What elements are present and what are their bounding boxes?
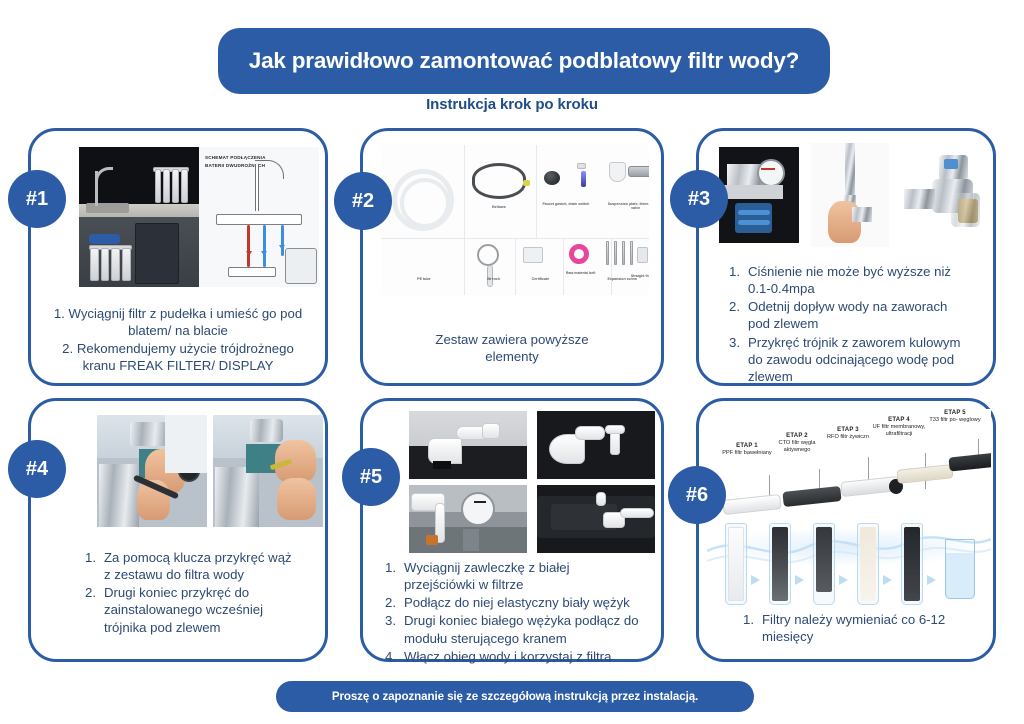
list-item: 4. Włącz obieg wody i korzystaj z filtra: [385, 648, 639, 665]
list-item-body: Filtry należy wymieniać co 6-12 miesięcy: [762, 612, 945, 644]
step-4-list: 1. Za pomocą klucza przykręć wąż z zesta…: [85, 549, 295, 636]
list-item-body: Drugi koniec białego wężyka podłącz do m…: [404, 613, 639, 645]
stage-4-head: ETAP 4: [871, 417, 927, 424]
list-item-number: 3.: [729, 334, 740, 351]
step-card-3: 1. Ciśnienie nie może być wyższe niż 0.1…: [696, 128, 996, 386]
list-item-number: 1.: [729, 263, 740, 280]
infographic-page: Jak prawidłowo zamontować podblatowy fil…: [0, 0, 1024, 724]
list-item-body: Za pomocą klucza przykręć wąż z zestawu …: [104, 550, 292, 582]
step-5-photo-4: [537, 485, 655, 553]
list-item: 1. Wyciągnij zawleczkę z białej przejści…: [385, 559, 639, 593]
step-5-photo-1: [409, 411, 527, 479]
stage-label-4: ETAP 4 UF filtr membranowy, ultrafiltrac…: [871, 417, 927, 438]
kit-label-straight-through: Straight through: [630, 274, 649, 278]
kit-label-suspension-plate: Suspension plate, three-way ball valve: [606, 202, 649, 211]
step-card-1: SCHEMAT PODŁĄCZENIA BATERII DWUDROŻNYCH: [28, 128, 328, 386]
footer-banner: Proszę o zapoznanie się ze szczegółową i…: [276, 681, 754, 712]
cartridge-2: [782, 486, 841, 507]
list-item-body: Wyciągnij zawleczkę z białej przejściówk…: [404, 560, 570, 592]
list-item-text: 2. Rekomendujemy użycie trójdrożnego kra…: [62, 341, 294, 373]
stage-label-3: ETAP 3 RFO filtr żywiczn: [825, 427, 871, 441]
step-4-photo-a: [97, 415, 207, 527]
step-5-list: 1. Wyciągnij zawleczkę z białej przejści…: [385, 559, 639, 665]
list-item: 3. Drugi koniec białego wężyka podłącz d…: [385, 612, 639, 646]
stage-3-sub: RFO filtr żywiczn: [825, 434, 871, 441]
filter-tube-5: [901, 523, 923, 605]
list-item: 1. Za pomocą klucza przykręć wąż z zesta…: [85, 549, 295, 583]
filter-tube-4: [857, 523, 879, 605]
list-item-body: Włącz obieg wody i korzystaj z filtra: [404, 649, 611, 664]
step-1-image: SCHEMAT PODŁĄCZENIA BATERII DWUDROŻNYCH: [79, 147, 319, 287]
step-badge-3-label: #3: [688, 188, 710, 211]
step-6-image: ETAP 1 PPF filtr bawełniany ETAP 2 CTO f…: [707, 409, 991, 609]
step-badge-6-label: #6: [686, 484, 708, 507]
kit-label-bellows: Bellows: [472, 205, 526, 209]
stage-label-2: ETAP 2 CTO filtr węgla aktywnego: [773, 433, 821, 454]
list-item-body: Ciśnienie nie może być wyższe niż 0.1-0.…: [748, 264, 951, 296]
stage-2-sub: CTO filtr węgla aktywnego: [773, 440, 821, 454]
list-item: 1. Filtry należy wymieniać co 6-12 miesi…: [743, 611, 965, 645]
step-1-list: 1. Wyciągnij filtr z pudełka i umieść go…: [45, 305, 311, 375]
step-badge-4-label: #4: [26, 458, 48, 481]
step-6-caption: 1. Filtry należy wymieniać co 6-12 miesi…: [729, 611, 979, 646]
list-item-body: Drugi koniec przykręć do zainstalowanego…: [104, 585, 263, 634]
list-item-body: Rekomendujemy użycie trójdrożnego kranu …: [77, 341, 294, 373]
stage-4-sub: UF filtr membranowy, ultrafiltracji: [871, 424, 927, 438]
step-4-photo-b: [213, 415, 323, 527]
step-2-caption: Zestaw zawiera powyższe elementy: [393, 331, 631, 365]
list-item: 2. Drugi koniec przykręć do zainstalowan…: [85, 584, 295, 635]
step-badge-4: #4: [8, 440, 66, 498]
step-badge-2: #2: [334, 172, 392, 230]
list-item-body: Przykręć trójnik z zaworem kulowym do za…: [748, 335, 961, 384]
step-5-caption: 1. Wyciągnij zawleczkę z białej przejści…: [371, 559, 653, 666]
filter-tube-3: [813, 523, 835, 605]
filter-tube-1: [725, 523, 747, 605]
step-3-caption: 1. Ciśnienie nie może być wyższe niż 0.1…: [715, 263, 983, 386]
step-badge-5: #5: [342, 448, 400, 506]
step-badge-3: #3: [670, 170, 728, 228]
list-item: 2. Odetnij dopływ wody na zaworach pod z…: [729, 298, 969, 332]
connection-diagram: SCHEMAT PODŁĄCZENIA BATERII DWUDROŻNYCH: [199, 147, 319, 287]
step-4-caption: 1. Za pomocą klucza przykręć wąż z zesta…: [71, 549, 309, 637]
list-item-number: 2.: [729, 298, 740, 315]
stage-1-head: ETAP 1: [721, 443, 773, 450]
step-card-2: PE tube Bellows Faucet gasket, drain swi…: [360, 128, 664, 386]
kitchen-photo: [79, 147, 199, 287]
step-4-image: [81, 415, 321, 531]
cartridge-5: [948, 452, 991, 471]
list-item-number: 2.: [385, 594, 396, 611]
cartridge-4: [896, 464, 953, 484]
kit-label-raw-material-belt: Raw material belt: [563, 271, 598, 275]
stage-3-head: ETAP 3: [825, 427, 871, 434]
stage-label-1: ETAP 1 PPF filtr bawełniany: [721, 443, 773, 457]
list-item: 1. Ciśnienie nie może być wyższe niż 0.1…: [729, 263, 969, 297]
kit-label-faucet-gasket: Faucet gasket, drain switch: [534, 202, 598, 206]
step-3-photo-b: [811, 143, 889, 247]
list-item-body: Odetnij dopływ wody na zaworach pod zlew…: [748, 299, 947, 331]
list-item-number: 1.: [85, 549, 96, 566]
step-badge-2-label: #2: [352, 190, 374, 213]
clean-water-glass: [945, 539, 975, 599]
list-item-number: 2.: [62, 341, 73, 356]
list-item-text: 1. Wyciągnij filtr z pudełka i umieść go…: [54, 306, 302, 338]
stage-label-5: ETAP 5 T33 filtr po- węglowy: [929, 410, 981, 424]
step-3-list: 1. Ciśnienie nie może być wyższe niż 0.1…: [729, 263, 969, 385]
step-5-photo-2: [537, 411, 655, 479]
step-5-photo-3: [409, 485, 527, 553]
list-item: 1. Wyciągnij filtr z pudełka i umieść go…: [45, 305, 311, 339]
list-item-body: Wyciągnij filtr z pudełka i umieść go po…: [68, 306, 302, 338]
step-badge-1-label: #1: [26, 188, 48, 211]
list-item-number: 2.: [85, 584, 96, 601]
step-5-image: [409, 411, 655, 553]
list-item-body: Podłącz do niej elastyczny biały wężyk: [404, 595, 630, 610]
list-item-number: 1.: [743, 611, 754, 628]
step-badge-1: #1: [8, 170, 66, 228]
step-3-image: [719, 143, 987, 249]
cartridge-1: [722, 494, 781, 515]
list-item-number: 3.: [385, 612, 396, 629]
kit-label-wrench: Wrench: [469, 277, 517, 281]
step-2-image: PE tube Bellows Faucet gasket, drain swi…: [381, 145, 649, 295]
step-badge-6: #6: [668, 466, 726, 524]
list-item: 2. Podłącz do niej elastyczny biały węży…: [385, 594, 639, 611]
filter-tube-2: [769, 523, 791, 605]
list-item-number: 1.: [385, 559, 396, 576]
stage-5-sub: T33 filtr po- węglowy: [929, 417, 981, 424]
stage-5-head: ETAP 5: [929, 410, 981, 417]
stage-2-head: ETAP 2: [773, 433, 821, 440]
kit-label-pe-tube: PE tube: [392, 277, 456, 281]
footer-text: Proszę o zapoznanie się ze szczegółową i…: [332, 690, 698, 703]
step-badge-5-label: #5: [360, 466, 382, 489]
step-card-4: 1. Za pomocą klucza przykręć wąż z zesta…: [28, 398, 328, 662]
step-card-5: 1. Wyciągnij zawleczkę z białej przejści…: [360, 398, 664, 662]
kit-label-certificate: Certificate: [518, 277, 564, 281]
step-1-caption: 1. Wyciągnij filtr z pudełka i umieść go…: [31, 305, 325, 376]
step-3-photo-c: [901, 145, 987, 245]
step-card-6: ETAP 1 PPF filtr bawełniany ETAP 2 CTO f…: [696, 398, 996, 662]
list-item-number: 4.: [385, 648, 396, 665]
step-6-list: 1. Filtry należy wymieniać co 6-12 miesi…: [743, 611, 965, 645]
stage-1-sub: PPF filtr bawełniany: [721, 450, 773, 457]
steps-grid: SCHEMAT PODŁĄCZENIA BATERII DWUDROŻNYCH: [0, 0, 1024, 724]
list-item: 2. Rekomendujemy użycie trójdrożnego kra…: [45, 340, 311, 374]
step-3-photo-a: [719, 147, 799, 243]
list-item-number: 1.: [54, 306, 65, 321]
list-item: 3. Przykręć trójnik z zaworem kulowym do…: [729, 334, 969, 385]
